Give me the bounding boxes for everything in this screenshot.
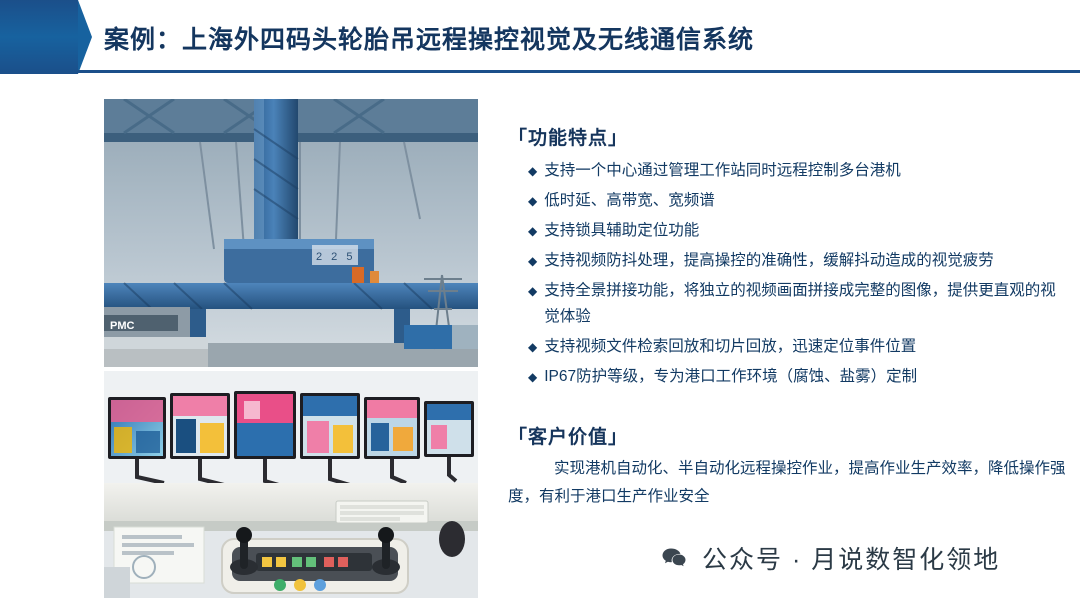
feature-text: 支持一个中心通过管理工作站同时远程控制多台港机 — [544, 158, 1064, 184]
list-item: ◆ 支持一个中心通过管理工作站同时远程控制多台港机 — [516, 158, 1064, 184]
feature-text: 支持锁具辅助定位功能 — [544, 218, 1064, 244]
diamond-bullet-icon: ◆ — [516, 278, 537, 304]
page-title: 案例：上海外四码头轮胎吊远程操控视觉及无线通信系统 — [104, 20, 754, 56]
control-room-illustration — [104, 371, 478, 598]
header-accent-block — [0, 0, 78, 74]
svg-text:PMC: PMC — [110, 320, 135, 332]
list-item: ◆ 支持视频文件检索回放和切片回放，迅速定位事件位置 — [516, 334, 1064, 360]
diamond-bullet-icon: ◆ — [516, 218, 537, 244]
page-header: 案例：上海外四码头轮胎吊远程操控视觉及无线通信系统 — [0, 0, 1080, 74]
list-item: ◆ 支持锁具辅助定位功能 — [516, 218, 1064, 244]
list-item: ◆ 低时延、高带宽、宽频谱 — [516, 188, 1064, 214]
list-item: ◆ 支持视频防抖处理，提高操控的准确性，缓解抖动造成的视觉疲劳 — [516, 248, 1064, 274]
header-divider — [78, 70, 1080, 73]
wechat-icon — [660, 544, 688, 572]
features-list: ◆ 支持一个中心通过管理工作站同时远程控制多台港机 ◆ 低时延、高带宽、宽频谱 … — [516, 158, 1064, 394]
list-item: ◆ IP67防护等级，专为港口工作环境（腐蚀、盐雾）定制 — [516, 364, 1064, 390]
customer-value-heading: 「客户价值」 — [508, 422, 628, 449]
diamond-bullet-icon: ◆ — [516, 248, 537, 274]
feature-text: IP67防护等级，专为港口工作环境（腐蚀、盐雾）定制 — [544, 364, 1064, 390]
features-heading: 「功能特点」 — [508, 123, 628, 150]
feature-text: 支持全景拼接功能，将独立的视频画面拼接成完整的图像，提供更直观的视觉体验 — [544, 278, 1064, 330]
diamond-bullet-icon: ◆ — [516, 188, 537, 214]
feature-text: 低时延、高带宽、宽频谱 — [544, 188, 1064, 214]
diamond-bullet-icon: ◆ — [516, 334, 537, 360]
customer-value-text: 实现港机自动化、半自动化远程操控作业，提高作业生产效率，降低操作强度，有利于港口… — [508, 455, 1068, 511]
feature-text: 支持视频文件检索回放和切片回放，迅速定位事件位置 — [544, 334, 1064, 360]
footer-brand: 公众号 · 月说数智化领地 — [660, 540, 1000, 576]
port-crane-photo: 2 2 5 PMC — [104, 99, 478, 367]
remote-control-room-photo — [104, 371, 478, 598]
feature-text: 支持视频防抖处理，提高操控的准确性，缓解抖动造成的视觉疲劳 — [544, 248, 1064, 274]
list-item: ◆ 支持全景拼接功能，将独立的视频画面拼接成完整的图像，提供更直观的视觉体验 — [516, 278, 1064, 330]
port-crane-illustration: 2 2 5 PMC — [104, 99, 478, 367]
diamond-bullet-icon: ◆ — [516, 364, 537, 390]
diamond-bullet-icon: ◆ — [516, 158, 537, 184]
brand-label: 公众号 · 月说数智化领地 — [702, 540, 1000, 576]
svg-text:2 2 5: 2 2 5 — [316, 251, 355, 263]
